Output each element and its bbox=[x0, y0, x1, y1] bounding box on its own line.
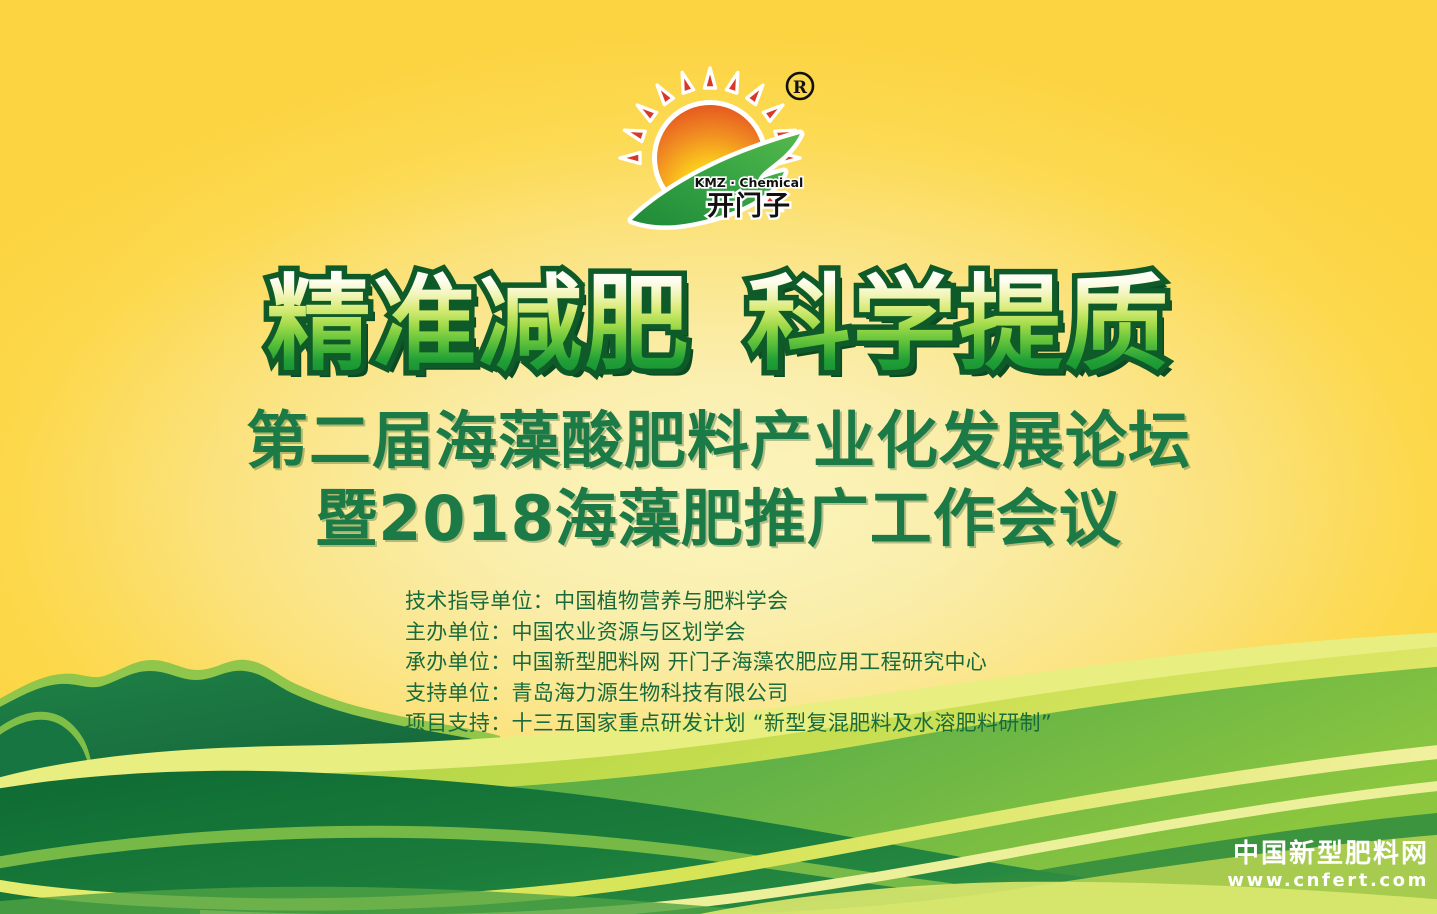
credit-line-technical-guidance: 技术指导单位：中国植物营养与肥料学会 bbox=[405, 586, 1305, 617]
headline-part1: 精准减肥 bbox=[266, 263, 690, 385]
brand-logo: R KMZ · Chemical 开门子 bbox=[0, 62, 1437, 242]
credit-line-project-support: 项目支持：十三五国家重点研发计划 “新型复混肥料及水溶肥料研制” bbox=[405, 708, 1305, 739]
subtitle-line-2: 暨2018海藻肥推广工作会议 bbox=[0, 484, 1437, 554]
site-watermark: 中国新型肥料网 www.cnfert.com bbox=[1227, 839, 1429, 892]
logo-brand-en: KMZ · Chemical bbox=[694, 175, 803, 190]
credit-line-supporter: 支持单位：青岛海力源生物科技有限公司 bbox=[405, 678, 1305, 709]
headline: 精准减肥科学提质 精准减肥科学提质 精准减肥科学提质 bbox=[0, 268, 1437, 380]
credit-line-organizer: 主办单位：中国农业资源与区划学会 bbox=[405, 617, 1305, 648]
logo-brand-cn: 开门子 bbox=[707, 191, 791, 222]
headline-fill-layer: 精准减肥科学提质 bbox=[0, 268, 1437, 380]
poster-banner: R KMZ · Chemical 开门子 精准减肥科学提质 精准减肥科学提质 精… bbox=[0, 0, 1437, 914]
watermark-site-url: www.cnfert.com bbox=[1227, 870, 1429, 892]
logo-graphic: R KMZ · Chemical 开门子 bbox=[614, 62, 824, 242]
registered-mark-icon: R bbox=[787, 73, 813, 99]
svg-text:R: R bbox=[792, 78, 807, 98]
headline-part2: 科学提质 bbox=[747, 263, 1171, 385]
credit-line-host: 承办单位：中国新型肥料网 开门子海藻农肥应用工程研究中心 bbox=[405, 647, 1305, 678]
subtitle-line-1: 第二届海藻酸肥料产业化发展论坛 bbox=[0, 406, 1437, 476]
watermark-site-name: 中国新型肥料网 bbox=[1227, 839, 1429, 869]
credits-block: 技术指导单位：中国植物营养与肥料学会 主办单位：中国农业资源与区划学会 承办单位… bbox=[405, 586, 1305, 739]
